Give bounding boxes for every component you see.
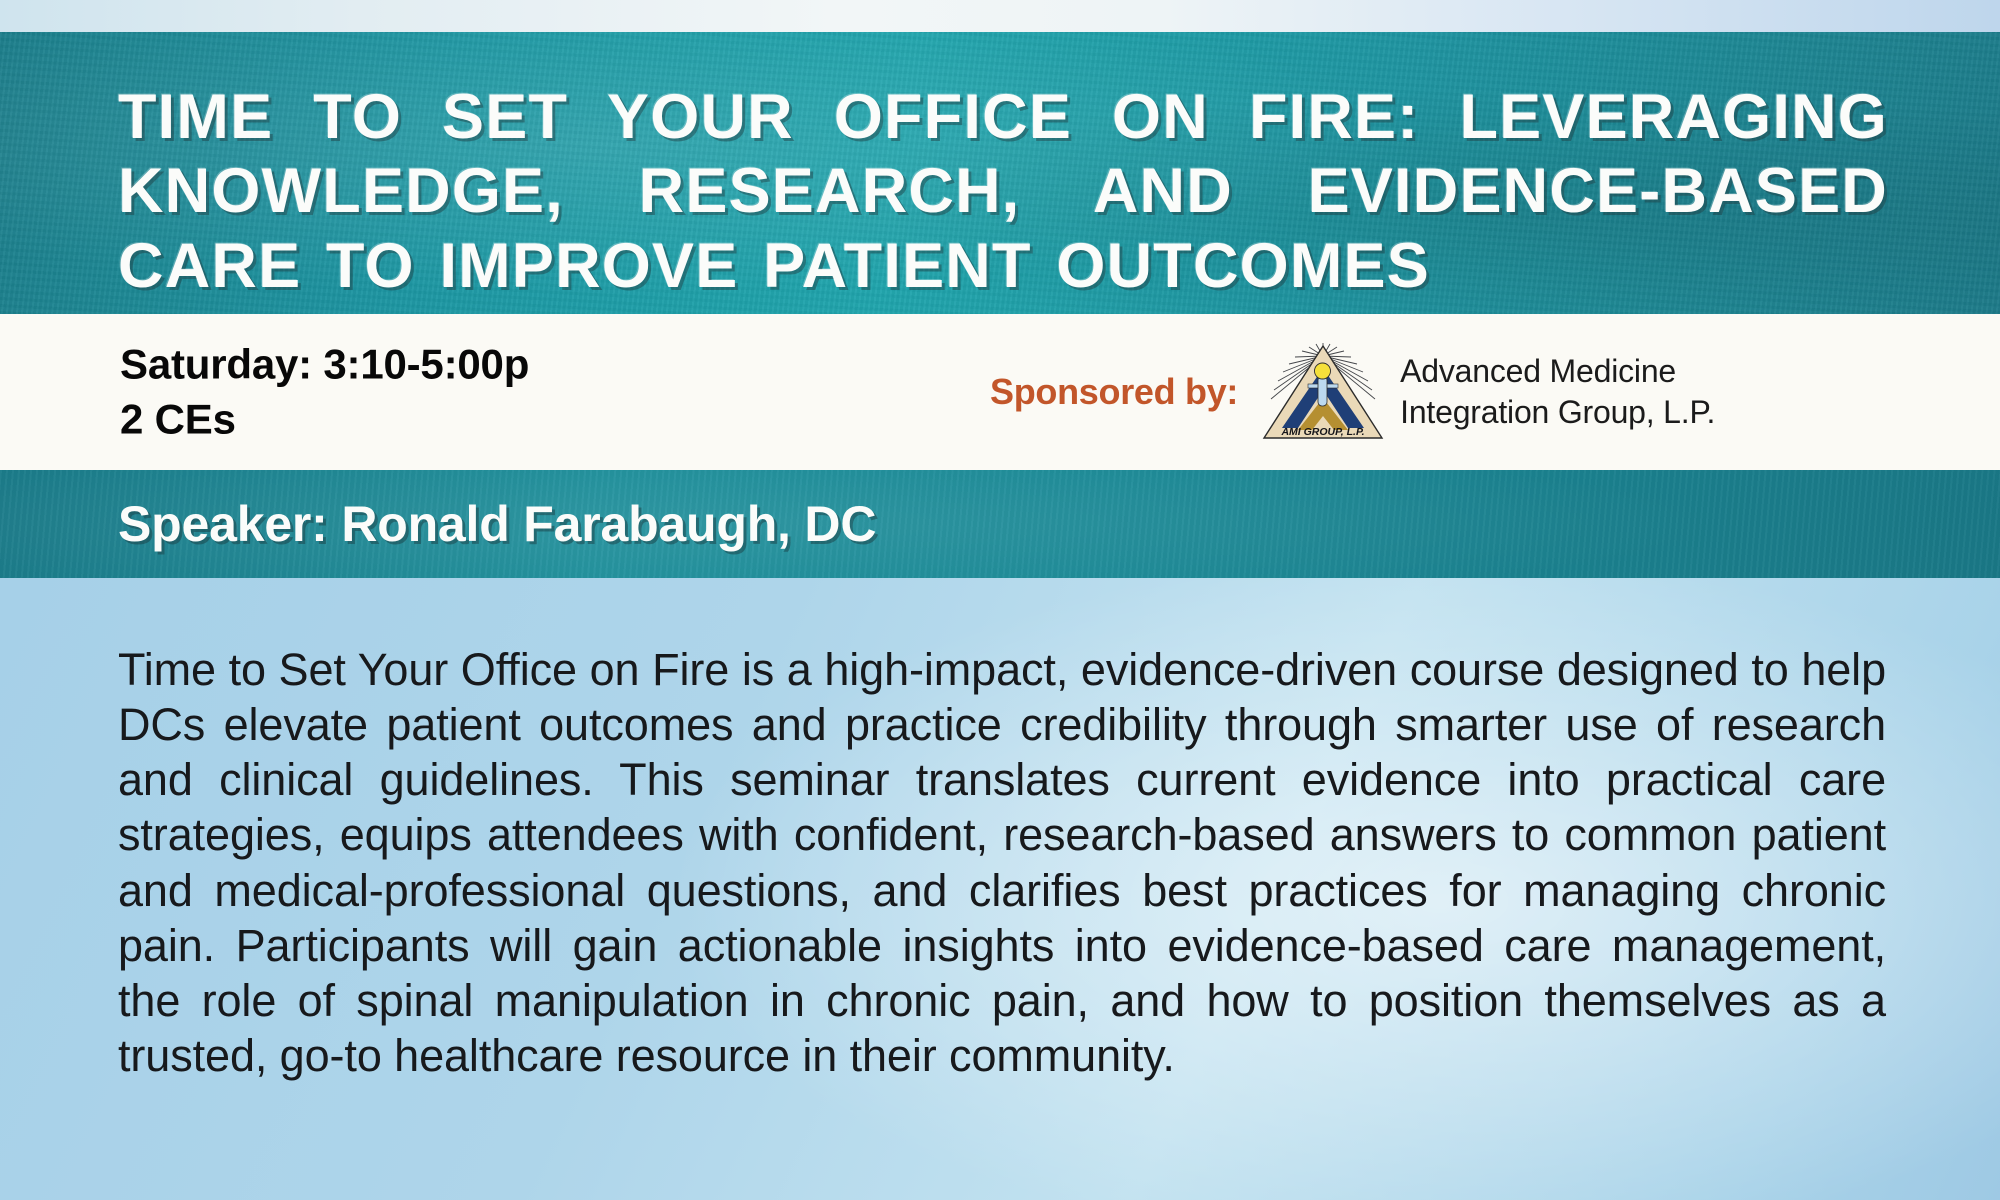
session-description: Time to Set Your Office on Fire is a hig… xyxy=(118,642,1886,1083)
sponsored-by-label: Sponsored by: xyxy=(990,371,1238,413)
decorative-top-strip xyxy=(0,0,2000,32)
title-banner: Time to Set Your Office on Fire: Leverag… xyxy=(0,32,2000,314)
description-area: Time to Set Your Office on Fire is a hig… xyxy=(0,578,2000,1200)
sponsor-name: Advanced Medicine Integration Group, L.P… xyxy=(1400,351,1715,433)
ami-group-pyramid-logo-icon: AMI GROUP, L.P. xyxy=(1260,340,1386,444)
schedule-block: Saturday: 3:10-5:00p 2 CEs xyxy=(120,337,529,448)
sponsor-logo[interactable]: AMI GROUP, L.P. Advanced Medicine Integr… xyxy=(1260,340,1715,444)
page-title: Time to Set Your Office on Fire: Leverag… xyxy=(118,80,1888,303)
speaker-banner: Speaker: Ronald Farabaugh, DC xyxy=(0,470,2000,578)
logo-caption-text: AMI GROUP, L.P. xyxy=(1281,426,1365,438)
sponsor-name-line-1: Advanced Medicine xyxy=(1400,351,1715,392)
sponsor-name-line-2: Integration Group, L.P. xyxy=(1400,392,1715,433)
session-credits: 2 CEs xyxy=(120,392,529,447)
session-schedule: Saturday: 3:10-5:00p xyxy=(120,337,529,392)
seminar-session-slide: Time to Set Your Office on Fire: Leverag… xyxy=(0,0,2000,1200)
sponsor-block: Sponsored by: xyxy=(990,340,1715,444)
session-info-bar: Saturday: 3:10-5:00p 2 CEs Sponsored by: xyxy=(0,314,2000,470)
speaker-name: Speaker: Ronald Farabaugh, DC xyxy=(118,495,876,553)
